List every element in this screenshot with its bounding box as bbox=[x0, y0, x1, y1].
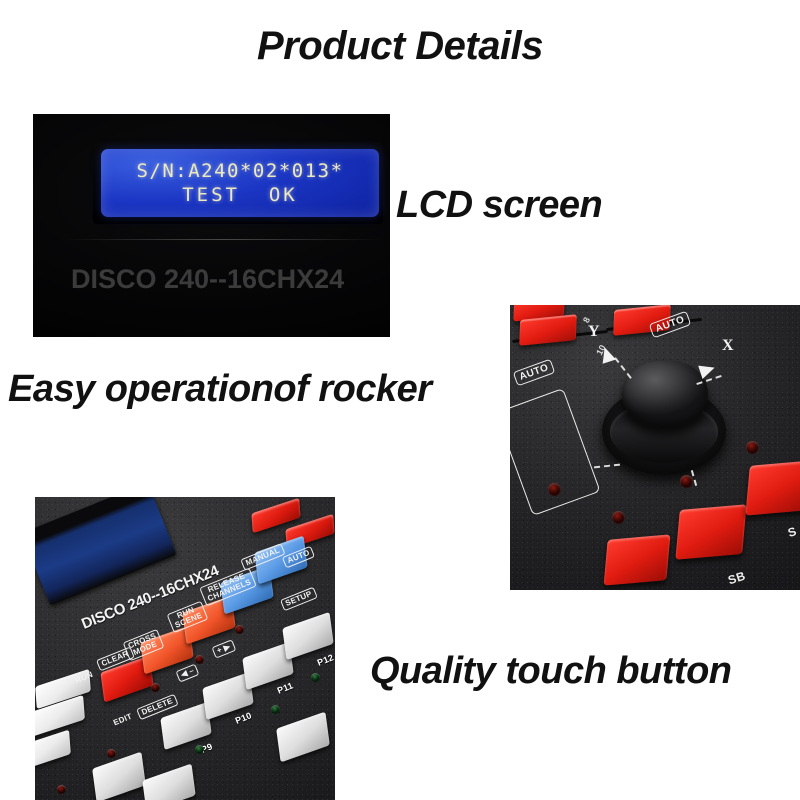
silk-label-edit: EDIT bbox=[112, 712, 133, 728]
button-label-sb-2: S bbox=[786, 524, 798, 540]
preset-key-lower[interactable] bbox=[92, 752, 146, 800]
preset-label-p11: P11 bbox=[276, 680, 295, 695]
led-indicator-green bbox=[195, 745, 204, 754]
led-indicator bbox=[57, 785, 66, 794]
silk-label-auto-left: AUTO bbox=[513, 359, 556, 387]
axis-label-y: Y bbox=[588, 323, 600, 341]
led-indicator bbox=[548, 483, 561, 496]
preset-key-p12[interactable] bbox=[282, 612, 333, 660]
led-indicator bbox=[195, 655, 204, 664]
fader-handle-white[interactable] bbox=[35, 730, 71, 771]
led-indicator bbox=[107, 749, 116, 758]
led-indicator-green bbox=[271, 705, 280, 714]
axis-label-x: X bbox=[722, 337, 734, 355]
page-title: Product Details bbox=[0, 24, 800, 69]
button-label-sb: SB bbox=[726, 569, 747, 588]
arrow-right-icon[interactable]: + ▶ bbox=[211, 639, 236, 659]
led-indicator-green bbox=[311, 673, 320, 682]
preset-key-lower-2[interactable] bbox=[142, 764, 195, 800]
fader-handle[interactable] bbox=[519, 314, 576, 346]
red-button-sb2[interactable] bbox=[745, 460, 800, 515]
preset-label-p10: P10 bbox=[234, 710, 253, 726]
led-indicator bbox=[151, 683, 160, 692]
lcd-line-status: TEST OK bbox=[182, 183, 298, 207]
silk-label-setup: SETUP bbox=[280, 587, 318, 612]
axis-left-dash bbox=[594, 464, 620, 469]
led-indicator bbox=[680, 475, 693, 488]
preset-key-lower-3[interactable] bbox=[276, 712, 330, 763]
caption-quality-touch-button: Quality touch button bbox=[370, 650, 732, 693]
console-model-silkscreen: DISCO 240--16CHX24 bbox=[71, 264, 344, 295]
arrow-left-icon[interactable]: ◀ – bbox=[175, 663, 200, 683]
preset-label-p12: P12 bbox=[316, 652, 335, 668]
led-indicator bbox=[235, 625, 244, 634]
led-indicator bbox=[746, 441, 759, 454]
axis-y-dash bbox=[614, 357, 632, 379]
product-details-page: Product Details S/N:A240*02*013* TEST OK… bbox=[0, 0, 800, 800]
led-indicator bbox=[612, 511, 625, 524]
red-button[interactable] bbox=[604, 534, 671, 585]
lcd-line-serial: S/N:A240*02*013* bbox=[136, 159, 343, 183]
panel-hairline bbox=[63, 239, 383, 240]
caption-easy-operation-rocker: Easy operationof rocker bbox=[8, 368, 432, 411]
caption-lcd-screen: LCD screen bbox=[396, 184, 602, 227]
console-closeup-photo: DISCO 240--16CHX24 RUN CLEAR EDIT DELETE… bbox=[35, 497, 335, 800]
joystick-knob[interactable] bbox=[622, 361, 708, 427]
red-button-sb[interactable] bbox=[675, 504, 746, 560]
joystick-closeup-photo: 8 10 AUTO AUTO Y X SB S bbox=[510, 305, 800, 590]
lcd-display: S/N:A240*02*013* TEST OK bbox=[101, 149, 379, 217]
lcd-closeup-photo: S/N:A240*02*013* TEST OK DISCO 240--16CH… bbox=[33, 114, 390, 337]
axis-y-arrow-icon bbox=[598, 345, 616, 364]
silk-group-outline bbox=[510, 388, 601, 516]
